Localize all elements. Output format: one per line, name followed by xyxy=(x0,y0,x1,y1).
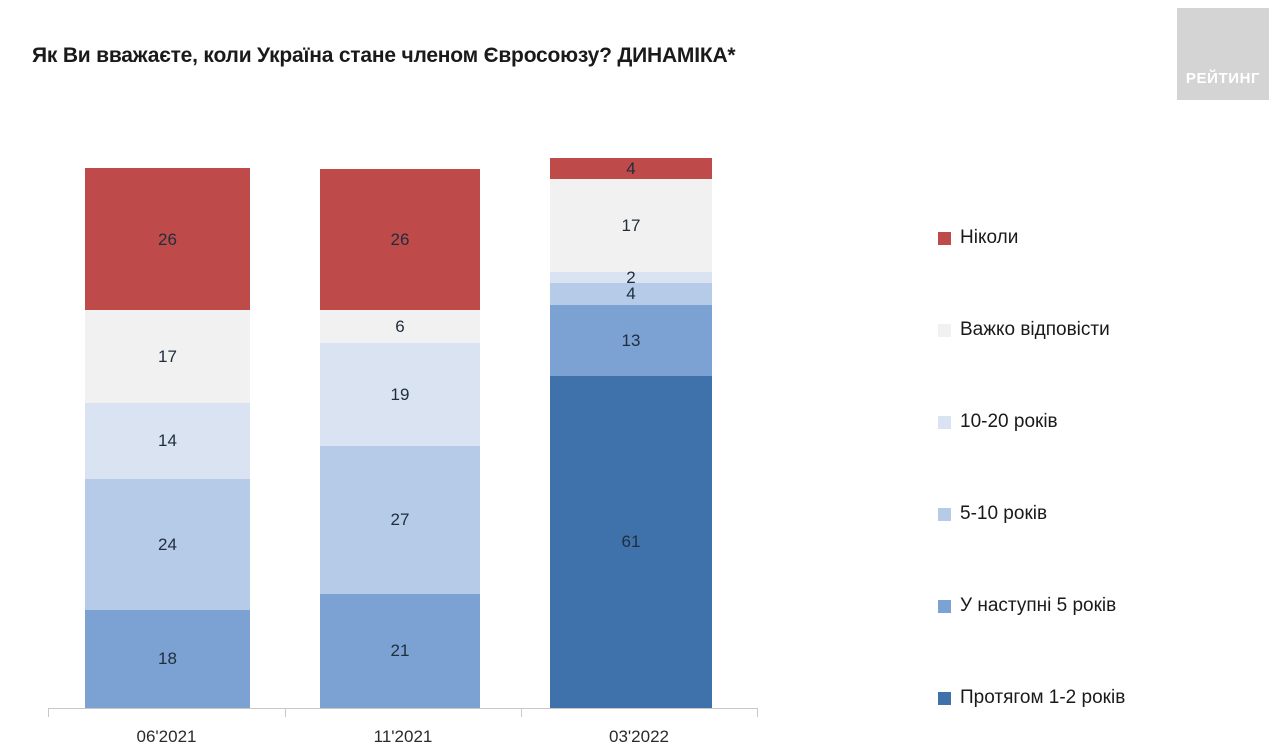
bar-segment[interactable]: 2 xyxy=(550,272,712,283)
bar-segment[interactable]: 24 xyxy=(85,479,250,610)
bar-segment-value-label: 17 xyxy=(158,348,177,365)
legend-label: 5-10 років xyxy=(960,503,1047,525)
bar-segment[interactable]: 17 xyxy=(550,179,712,272)
x-axis-tick xyxy=(48,708,49,717)
bar-segment-value-label: 19 xyxy=(391,386,410,403)
legend-swatch-icon xyxy=(938,692,951,705)
bar-segment[interactable]: 4 xyxy=(550,283,712,305)
bar-segment-value-label: 17 xyxy=(622,217,641,234)
bar-segment[interactable]: 27 xyxy=(320,446,480,593)
legend-item[interactable]: 10-20 років xyxy=(938,376,1258,468)
bar-segment-value-label: 21 xyxy=(391,642,410,659)
bar-segment-value-label: 24 xyxy=(158,536,177,553)
bar-segment-value-label: 13 xyxy=(622,332,641,349)
bar-segment[interactable]: 14 xyxy=(85,403,250,479)
bar-segment-value-label: 6 xyxy=(395,318,404,335)
bar-segment[interactable]: 26 xyxy=(320,169,480,311)
bar-segment-value-label: 26 xyxy=(391,231,410,248)
legend-item[interactable]: 5-10 років xyxy=(938,468,1258,560)
chart-legend: НіколиВажко відповісти10-20 років5-10 ро… xyxy=(938,192,1258,744)
legend-label: Ніколи xyxy=(960,227,1018,249)
legend-swatch-icon xyxy=(938,508,951,521)
bar-segment[interactable]: 19 xyxy=(320,343,480,447)
bar-stack[interactable]: 266192721 xyxy=(320,169,480,709)
legend-label: Важко відповісти xyxy=(960,319,1110,341)
legend-label: 10-20 років xyxy=(960,411,1058,433)
legend-item[interactable]: Протягом 1-2 років xyxy=(938,652,1258,744)
bar-segment-value-label: 26 xyxy=(158,231,177,248)
bar-segment[interactable]: 18 xyxy=(85,610,250,708)
bar-segment-value-label: 27 xyxy=(391,511,410,528)
bar-segment-value-label: 18 xyxy=(158,650,177,667)
legend-item[interactable]: У наступні 5 років xyxy=(938,560,1258,652)
legend-item[interactable]: Ніколи xyxy=(938,192,1258,284)
x-axis-tick xyxy=(285,708,286,717)
legend-swatch-icon xyxy=(938,600,951,613)
legend-swatch-icon xyxy=(938,324,951,337)
x-axis-label: 06'2021 xyxy=(48,727,285,747)
bar-stack[interactable]: 2617142418 xyxy=(85,168,250,708)
legend-label: Протягом 1-2 років xyxy=(960,687,1125,709)
x-axis-line xyxy=(48,708,758,709)
brand-logo: РЕЙТИНГ xyxy=(1177,8,1269,100)
brand-logo-text: РЕЙТИНГ xyxy=(1186,70,1260,87)
bar-segment-value-label: 61 xyxy=(622,533,641,550)
bar-stack[interactable]: 417241361 xyxy=(550,158,712,708)
legend-swatch-icon xyxy=(938,416,951,429)
bar-segment-value-label: 14 xyxy=(158,432,177,449)
x-axis-tick xyxy=(521,708,522,717)
bar-segment[interactable]: 13 xyxy=(550,305,712,376)
bar-segment-value-label: 4 xyxy=(626,160,635,177)
x-axis-label: 03'2022 xyxy=(521,727,757,747)
bar-segment[interactable]: 6 xyxy=(320,310,480,343)
bar-segment[interactable]: 4 xyxy=(550,158,712,180)
bar-segment[interactable]: 26 xyxy=(85,168,250,310)
legend-swatch-icon xyxy=(938,232,951,245)
bar-segment[interactable]: 61 xyxy=(550,376,712,708)
bar-segment[interactable]: 17 xyxy=(85,310,250,403)
legend-label: У наступні 5 років xyxy=(960,595,1116,617)
bar-segment[interactable]: 21 xyxy=(320,594,480,708)
chart-plot-area: 2617142418266192721417241361 xyxy=(0,0,900,754)
x-axis-tick xyxy=(757,708,758,717)
legend-item[interactable]: Важко відповісти xyxy=(938,284,1258,376)
x-axis-label: 11'2021 xyxy=(285,727,521,747)
bar-segment-value-label: 4 xyxy=(626,285,635,302)
